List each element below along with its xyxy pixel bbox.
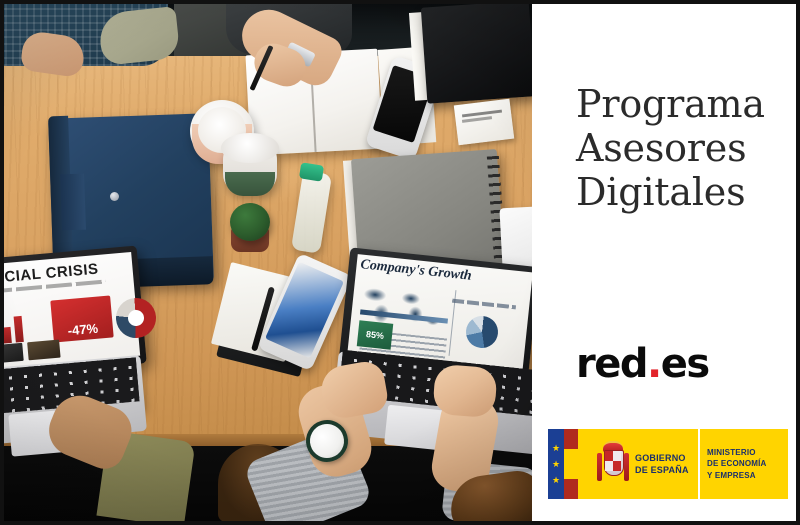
ministerio-block: MINISTERIO DE ECONOMÍA Y EMPRESA xyxy=(700,429,788,499)
pillar-right xyxy=(624,453,629,481)
page-title: Programa Asesores Digitales xyxy=(576,82,796,214)
gobierno-text: GOBIERNO DE ESPAÑA xyxy=(635,452,689,476)
ministerio-line-2: DE ECONOMÍA xyxy=(707,458,767,470)
navy-notebook-strap xyxy=(60,174,86,231)
info-panel: Programa Asesores Digitales red.es ★ ★ ★ xyxy=(532,4,796,521)
shield-quarter-3 xyxy=(605,461,613,471)
eu-star-icon: ★ xyxy=(552,460,560,469)
poster-root: FINANCIAL CRISIS -47% Company's Growth xyxy=(0,0,800,525)
government-banner: ★ ★ ★ GOBIERNO DE ESP xyxy=(548,429,788,499)
left-laptop-metric-panel: -47% xyxy=(50,295,113,342)
ministerio-text: MINISTERIO DE ECONOMÍA Y EMPRESA xyxy=(707,447,767,482)
page-title-line-3: Digitales xyxy=(576,170,796,214)
eu-stars-group: ★ ★ ★ xyxy=(548,429,564,499)
left-laptop-bar-chart xyxy=(4,296,44,348)
redes-logo-part-1: red xyxy=(576,341,647,387)
white-keyboard xyxy=(499,204,532,271)
team-photo: FINANCIAL CRISIS -47% Company's Growth xyxy=(4,4,532,521)
ministerio-line-3: Y EMPRESA xyxy=(707,470,767,482)
right-laptop-metric-value: 85% xyxy=(366,329,385,341)
page-title-line-1: Programa xyxy=(576,82,796,126)
ministerio-line-1: MINISTERIO xyxy=(707,447,767,459)
takeaway-cup-lid xyxy=(221,133,279,163)
water-bottle-cap xyxy=(299,162,324,181)
black-folder xyxy=(421,4,532,104)
gobierno-line-1: GOBIERNO xyxy=(635,452,689,464)
spain-coat-of-arms-icon xyxy=(596,441,630,487)
eu-spain-flag-block: ★ ★ ★ xyxy=(548,429,592,499)
redes-logo-part-2: es xyxy=(661,341,709,387)
shield-quarter-1 xyxy=(605,451,613,461)
gobierno-block: GOBIERNO DE ESPAÑA xyxy=(592,429,698,499)
eu-star-icon: ★ xyxy=(552,444,560,453)
shield-quarter-2 xyxy=(613,451,621,461)
right-laptop-metric-panel: 85% xyxy=(357,320,394,349)
eu-star-icon: ★ xyxy=(552,476,560,485)
redes-logo: red.es xyxy=(576,344,709,384)
spain-flag-red-band-bottom xyxy=(564,479,578,499)
gobierno-line-2: DE ESPAÑA xyxy=(635,464,689,476)
spain-flag-red-band-top xyxy=(564,429,578,449)
redes-logo-dot: . xyxy=(647,341,661,387)
takeaway-cup-band xyxy=(225,172,275,196)
typing-hand-right xyxy=(432,364,497,418)
shield-quarter-4 xyxy=(613,461,621,471)
page-title-line-2: Asesores xyxy=(576,126,796,170)
navy-notebook-snap xyxy=(110,192,119,201)
cactus-plant xyxy=(230,203,270,241)
pillar-left xyxy=(597,453,602,481)
left-laptop-metric-value: -47% xyxy=(67,321,99,342)
